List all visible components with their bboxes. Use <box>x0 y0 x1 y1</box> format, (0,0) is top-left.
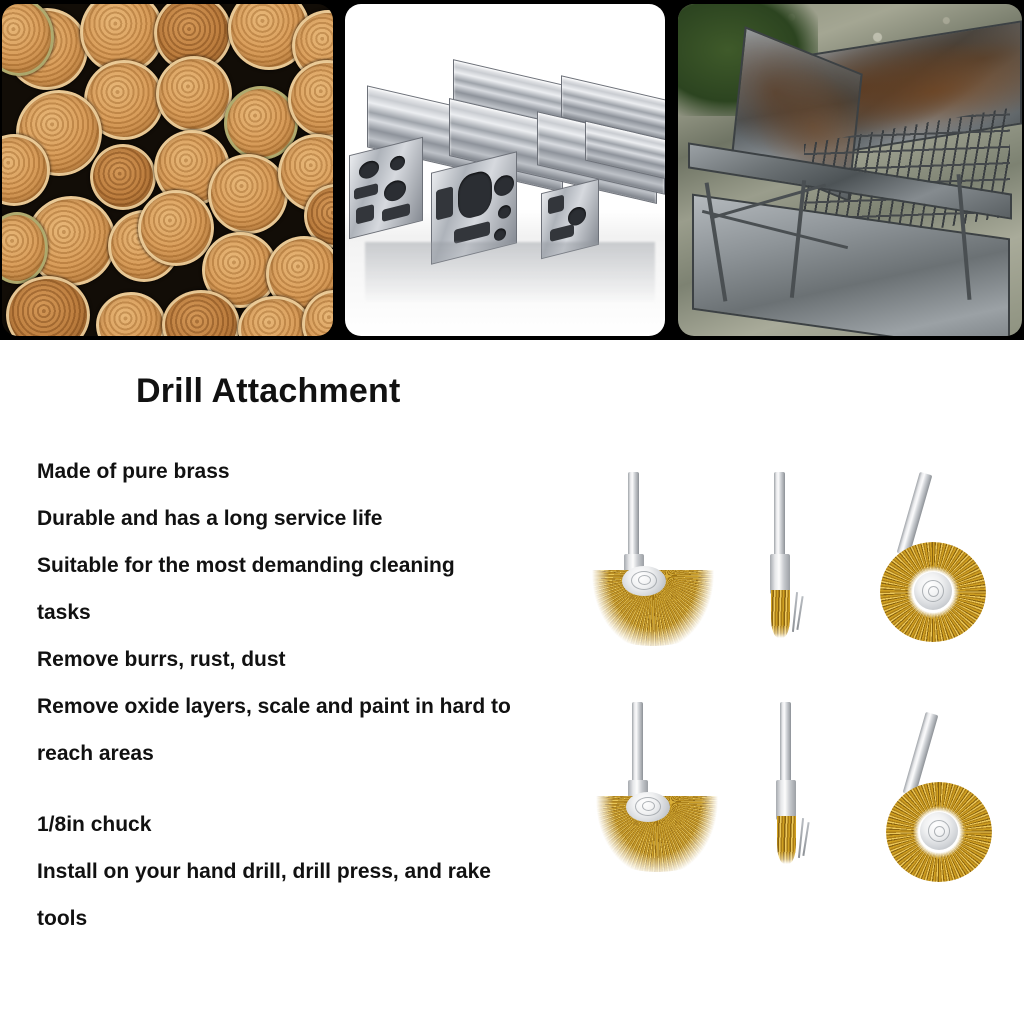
product-flat-wheel-brush-bottom <box>886 712 1006 892</box>
brush-hub-ring <box>642 801 655 811</box>
profile-hole <box>384 178 406 203</box>
profile-hole <box>390 154 405 172</box>
profile-hole <box>494 173 514 198</box>
profile-slot <box>454 221 490 244</box>
profile-slot <box>550 224 574 242</box>
feature-line: tasks <box>37 589 637 636</box>
product-bevel-cup-brush-top <box>592 470 722 660</box>
profile-hole <box>494 227 506 242</box>
feature-list: Made of pure brass Durable and has a lon… <box>37 448 637 942</box>
profile-slot <box>356 204 374 224</box>
brush-ferrule <box>770 554 790 594</box>
photo-rusty-metal-grill <box>678 4 1022 336</box>
page-title: Drill Attachment <box>136 372 401 411</box>
brush-bristles <box>771 590 790 638</box>
brush-shank <box>774 472 785 560</box>
spec-line: Install on your hand drill, drill press,… <box>37 848 637 895</box>
log-end <box>90 144 156 210</box>
photo-aluminium-extrusion-profiles <box>345 4 665 336</box>
brush-shank <box>628 472 639 560</box>
photo-stacked-log-ends <box>2 4 333 336</box>
log-end <box>156 56 232 132</box>
feature-line: Remove burrs, rust, dust <box>37 636 637 683</box>
feature-line: Suitable for the most demanding cleaning <box>37 542 637 589</box>
feature-line: Made of pure brass <box>37 448 637 495</box>
profile-hole <box>359 159 379 181</box>
profile-slot <box>436 186 453 220</box>
feature-line: reach areas <box>37 730 637 777</box>
profile-slot <box>548 194 564 214</box>
feature-line: Remove oxide layers, scale and paint in … <box>37 683 637 730</box>
feature-list-spacer <box>37 777 637 801</box>
product-bevel-cup-brush-bottom <box>596 700 726 890</box>
feature-line: Durable and has a long service life <box>37 495 637 542</box>
product-end-brush-top <box>756 470 826 660</box>
photo-band <box>0 0 1024 340</box>
profile-slot <box>354 183 378 200</box>
spec-line: tools <box>37 895 637 942</box>
brush-hub-ring <box>638 575 651 585</box>
brush-shank <box>632 702 643 786</box>
product-flat-wheel-brush-top <box>880 472 1000 652</box>
brush-hub-ring <box>934 826 945 837</box>
stray-bristle <box>796 596 803 630</box>
profile-hole <box>458 169 492 221</box>
product-end-brush-bottom <box>762 700 832 890</box>
profile-slot <box>382 203 410 222</box>
stray-bristle <box>802 822 809 856</box>
log-end <box>138 190 214 266</box>
brush-bristles <box>777 816 796 864</box>
brush-hub-ring <box>928 586 939 597</box>
extrusion-reflection <box>365 242 655 304</box>
brush-shank <box>780 702 791 786</box>
profile-hole <box>498 204 511 220</box>
spec-line: 1/8in chuck <box>37 801 637 848</box>
brush-ferrule <box>776 780 796 820</box>
log-end <box>208 154 288 234</box>
